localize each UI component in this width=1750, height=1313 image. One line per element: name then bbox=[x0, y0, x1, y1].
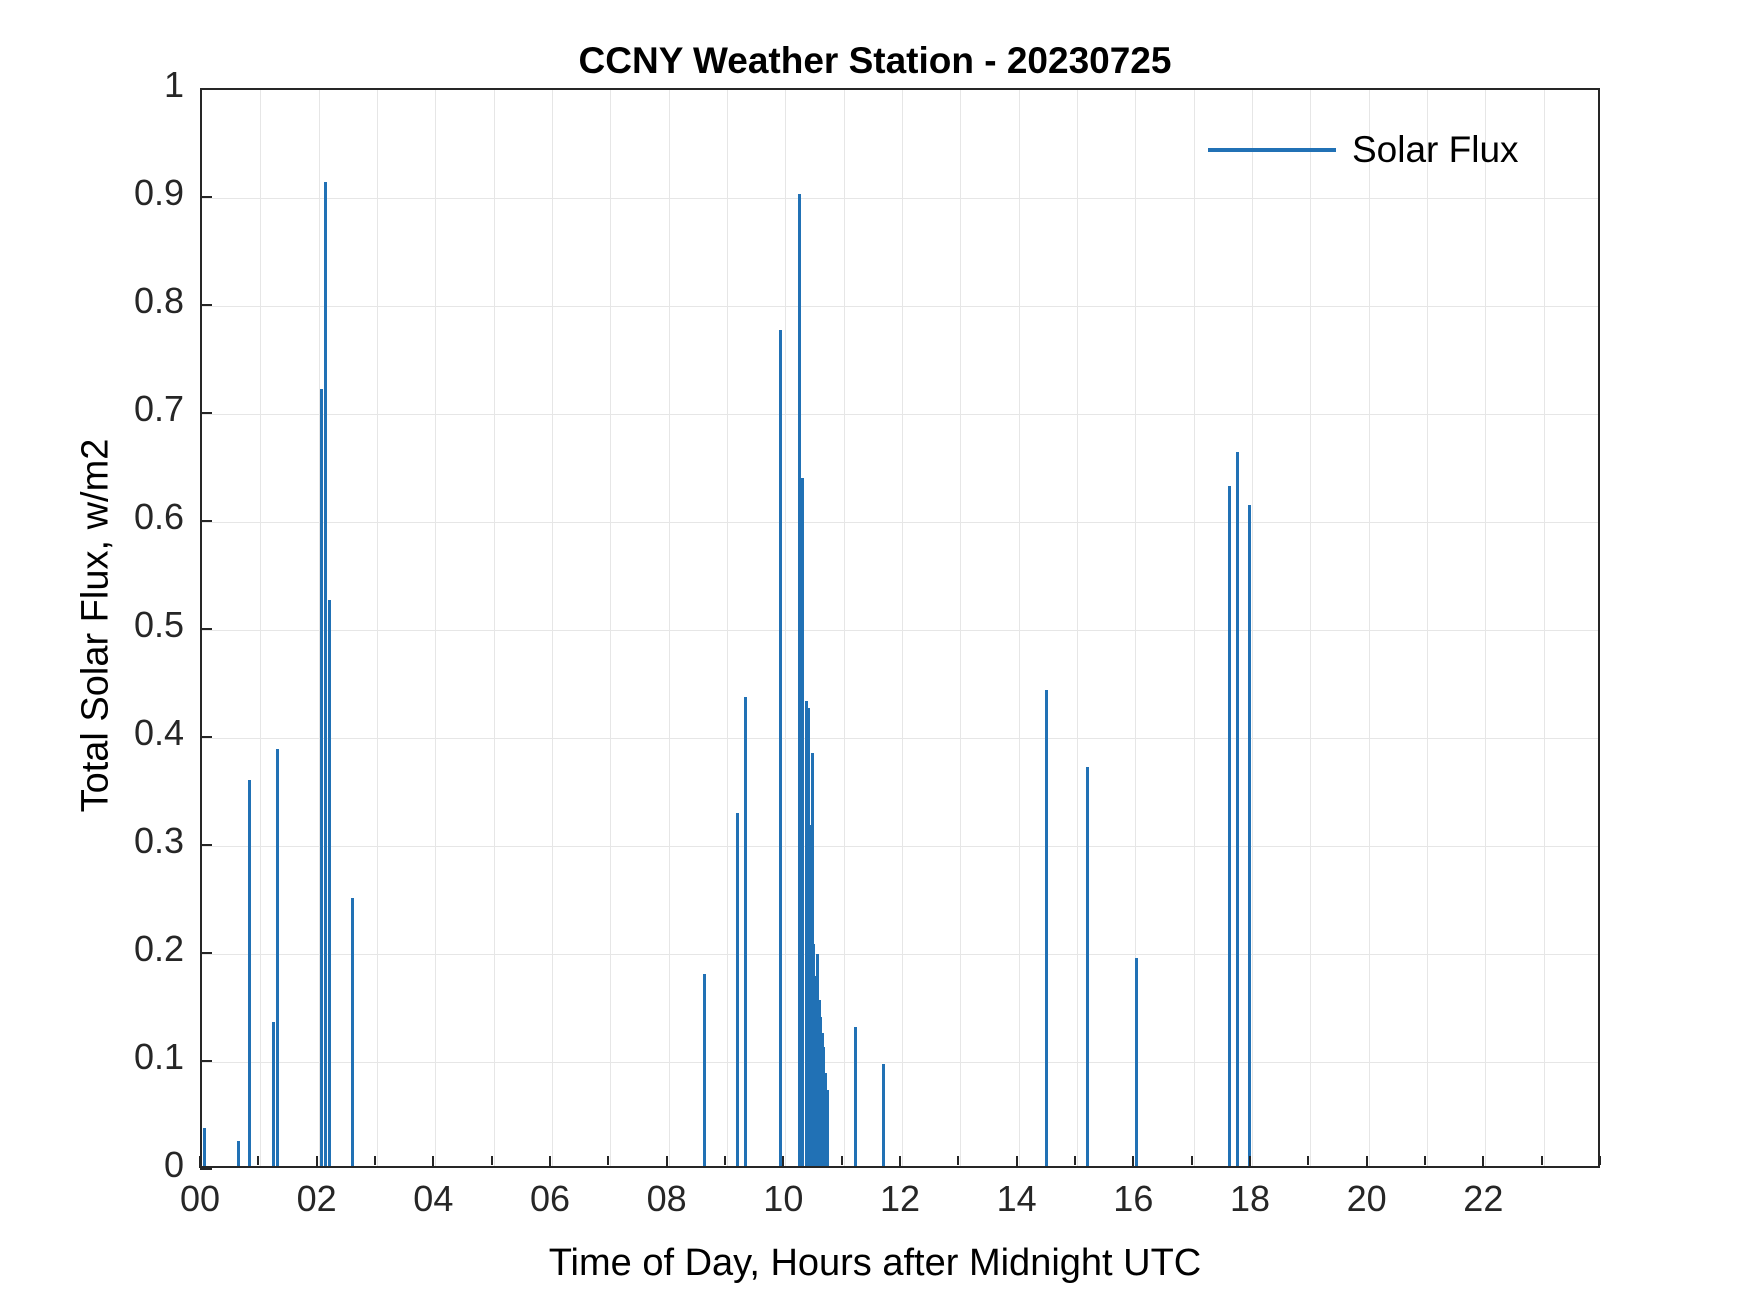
x-tick-mark bbox=[666, 1156, 668, 1168]
data-spike bbox=[1135, 958, 1138, 1166]
x-tick-label: 00 bbox=[140, 1178, 260, 1220]
data-spike bbox=[237, 1141, 240, 1166]
y-tick-mark bbox=[200, 196, 212, 198]
y-tick-mark bbox=[200, 304, 212, 306]
data-spike bbox=[703, 974, 706, 1166]
legend-label-solar-flux: Solar Flux bbox=[1352, 129, 1519, 171]
y-tick-label: 0.5 bbox=[134, 604, 184, 646]
y-tick-label: 0.9 bbox=[134, 172, 184, 214]
x-tick-label: 12 bbox=[840, 1178, 960, 1220]
y-tick-mark bbox=[200, 1168, 212, 1170]
x-tick-mark-minor bbox=[957, 1156, 959, 1165]
data-spike bbox=[826, 1090, 829, 1166]
x-tick-mark bbox=[1016, 1156, 1018, 1168]
x-tick-mark bbox=[432, 1156, 434, 1168]
y-tick-mark bbox=[200, 628, 212, 630]
x-tick-label: 14 bbox=[957, 1178, 1077, 1220]
y-tick-mark bbox=[200, 844, 212, 846]
x-tick-mark-minor bbox=[374, 1156, 376, 1165]
x-tick-mark-minor bbox=[1541, 1156, 1543, 1165]
x-axis-label: Time of Day, Hours after Midnight UTC bbox=[0, 1242, 1750, 1285]
y-tick-label: 0.3 bbox=[134, 820, 184, 862]
y-tick-mark bbox=[200, 520, 212, 522]
data-spike bbox=[248, 780, 251, 1166]
x-tick-label: 16 bbox=[1073, 1178, 1193, 1220]
y-tick-mark bbox=[200, 412, 212, 414]
data-spike bbox=[1248, 505, 1251, 1166]
x-tick-mark bbox=[549, 1156, 551, 1168]
data-spike bbox=[736, 813, 739, 1166]
data-spike bbox=[1045, 690, 1048, 1166]
x-tick-mark bbox=[1366, 1156, 1368, 1168]
x-tick-mark bbox=[899, 1156, 901, 1168]
y-tick-label: 0.4 bbox=[134, 712, 184, 754]
legend-line-solar-flux bbox=[1208, 148, 1336, 152]
y-tick-label: 0.8 bbox=[134, 280, 184, 322]
x-tick-label: 08 bbox=[607, 1178, 727, 1220]
x-tick-label: 20 bbox=[1307, 1178, 1427, 1220]
y-tick-mark bbox=[200, 736, 212, 738]
x-tick-label: 04 bbox=[373, 1178, 493, 1220]
x-tick-mark bbox=[1132, 1156, 1134, 1168]
data-spike bbox=[854, 1027, 857, 1166]
y-tick-label: 0.2 bbox=[134, 928, 184, 970]
chart-figure: CCNY Weather Station - 20230725 00.10.20… bbox=[0, 0, 1750, 1313]
data-spike bbox=[744, 697, 747, 1166]
data-spike bbox=[1236, 452, 1239, 1166]
data-spike bbox=[272, 1022, 275, 1166]
y-tick-label: 0.7 bbox=[134, 388, 184, 430]
plot-area bbox=[200, 88, 1600, 1168]
chart-title: CCNY Weather Station - 20230725 bbox=[0, 40, 1750, 82]
data-spike bbox=[320, 389, 323, 1166]
y-axis-label: Total Solar Flux, w/m2 bbox=[75, 86, 118, 1166]
data-spike bbox=[328, 600, 331, 1166]
x-tick-mark-minor bbox=[724, 1156, 726, 1165]
x-tick-mark-minor bbox=[1599, 1156, 1601, 1165]
y-tick-mark bbox=[200, 88, 212, 90]
data-spike bbox=[276, 749, 279, 1166]
y-tick-mark bbox=[200, 952, 212, 954]
x-tick-label: 22 bbox=[1423, 1178, 1543, 1220]
x-tick-label: 10 bbox=[723, 1178, 843, 1220]
y-tick-label: 0.6 bbox=[134, 496, 184, 538]
x-tick-label: 06 bbox=[490, 1178, 610, 1220]
x-tick-mark bbox=[199, 1156, 201, 1168]
x-tick-mark-minor bbox=[841, 1156, 843, 1165]
x-tick-mark bbox=[316, 1156, 318, 1168]
x-tick-mark-minor bbox=[607, 1156, 609, 1165]
x-tick-label: 18 bbox=[1190, 1178, 1310, 1220]
y-tick-label: 0.1 bbox=[134, 1036, 184, 1078]
x-tick-mark bbox=[782, 1156, 784, 1168]
data-series-solar-flux bbox=[202, 90, 1598, 1166]
data-spike bbox=[882, 1064, 885, 1166]
y-tick-label: 1 bbox=[164, 64, 184, 106]
x-tick-mark-minor bbox=[257, 1156, 259, 1165]
data-spike bbox=[203, 1128, 206, 1166]
data-spike bbox=[1086, 767, 1089, 1166]
data-spike bbox=[779, 330, 782, 1166]
data-spike bbox=[351, 898, 354, 1166]
x-tick-label: 02 bbox=[257, 1178, 377, 1220]
x-tick-mark-minor bbox=[1424, 1156, 1426, 1165]
data-spike bbox=[1228, 486, 1231, 1166]
legend: Solar Flux bbox=[1208, 110, 1588, 190]
x-tick-mark bbox=[1482, 1156, 1484, 1168]
y-tick-mark bbox=[200, 1060, 212, 1062]
x-tick-mark-minor bbox=[1191, 1156, 1193, 1165]
x-tick-mark-minor bbox=[1307, 1156, 1309, 1165]
x-tick-mark bbox=[1249, 1156, 1251, 1168]
x-tick-mark-minor bbox=[1074, 1156, 1076, 1165]
x-tick-mark-minor bbox=[491, 1156, 493, 1165]
